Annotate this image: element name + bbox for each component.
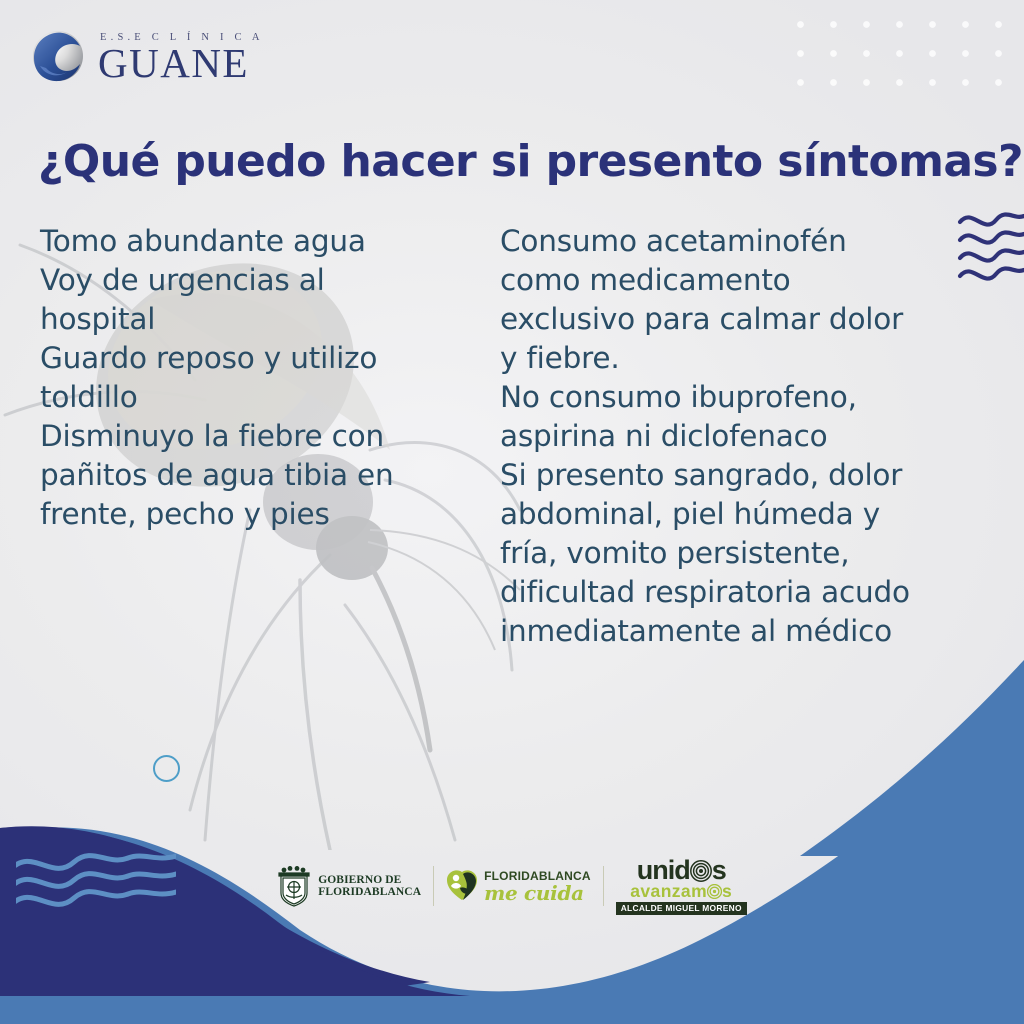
unidos-avanzamos-logo: unid s avanzam — [604, 858, 759, 915]
right-line: como medicamento — [500, 261, 970, 300]
footer-logo-row: GOBIERNO DE FLORIDABLANCA FLORIDABLANCA … — [0, 858, 1024, 915]
avanzamos-text-a: avanzam — [630, 883, 707, 900]
unidos-text-b: s — [712, 858, 726, 883]
target-circles-icon — [707, 884, 722, 899]
left-column: Tomo abundante agua Voy de urgencias al … — [40, 222, 460, 651]
left-line: Tomo abundante agua — [40, 222, 460, 261]
right-line: Si presento sangrado, dolor — [500, 456, 970, 495]
right-line: No consumo ibuprofeno, — [500, 378, 970, 417]
content-columns: Tomo abundante agua Voy de urgencias al … — [40, 222, 970, 651]
left-line: hospital — [40, 300, 460, 339]
right-line: inmediatamente al médico — [500, 612, 970, 651]
right-line: abdominal, piel húmeda y — [500, 495, 970, 534]
me-cuida-script-text: me cuida — [484, 883, 591, 903]
left-line: toldillo — [40, 378, 460, 417]
avanzamos-text-b: s — [722, 883, 732, 900]
left-line: pañitos de agua tibia en — [40, 456, 460, 495]
gobierno-line2: FLORIDABLANCA — [318, 886, 421, 899]
right-column: Consumo acetaminofén como medicamento ex… — [500, 222, 970, 651]
page-title: ¿Qué puedo hacer si presento síntomas? — [38, 136, 968, 187]
left-line: frente, pecho y pies — [40, 495, 460, 534]
gobierno-floridablanca-logo: GOBIERNO DE FLORIDABLANCA — [265, 865, 433, 907]
hands-heart-icon — [446, 869, 478, 903]
wave-lines-icon — [942, 208, 1024, 286]
left-line: Guardo reposo y utilizo — [40, 339, 460, 378]
circle-outline-icon — [153, 755, 180, 782]
right-line: fría, vomito persistente, — [500, 534, 970, 573]
dot-grid-icon — [776, 0, 1024, 86]
brand-logo: E.S.E C L Í N I C A GUANE — [30, 26, 264, 86]
right-line: exclusivo para calmar dolor — [500, 300, 970, 339]
me-cuida-top-text: FLORIDABLANCA — [484, 870, 591, 882]
sphere-wave-icon — [30, 26, 88, 86]
poster-canvas: E.S.E C L Í N I C A GUANE ¿Qué puedo hac… — [0, 0, 1024, 1024]
brand-name: GUANE — [98, 45, 264, 83]
right-line: y fiebre. — [500, 339, 970, 378]
coat-of-arms-icon — [277, 865, 311, 907]
target-circles-icon — [690, 860, 712, 882]
gobierno-line1: GOBIERNO DE — [318, 874, 421, 887]
floridablanca-me-cuida-logo: FLORIDABLANCA me cuida — [434, 869, 603, 903]
unidos-text-a: unid — [637, 858, 690, 883]
alcalde-name-bar: ALCALDE MIGUEL MORENO — [616, 902, 747, 915]
left-line: Disminuyo la fiebre con — [40, 417, 460, 456]
right-line: dificultad respiratoria acudo — [500, 573, 970, 612]
right-line: aspirina ni diclofenaco — [500, 417, 970, 456]
right-line: Consumo acetaminofén — [500, 222, 970, 261]
left-line: Voy de urgencias al — [40, 261, 460, 300]
